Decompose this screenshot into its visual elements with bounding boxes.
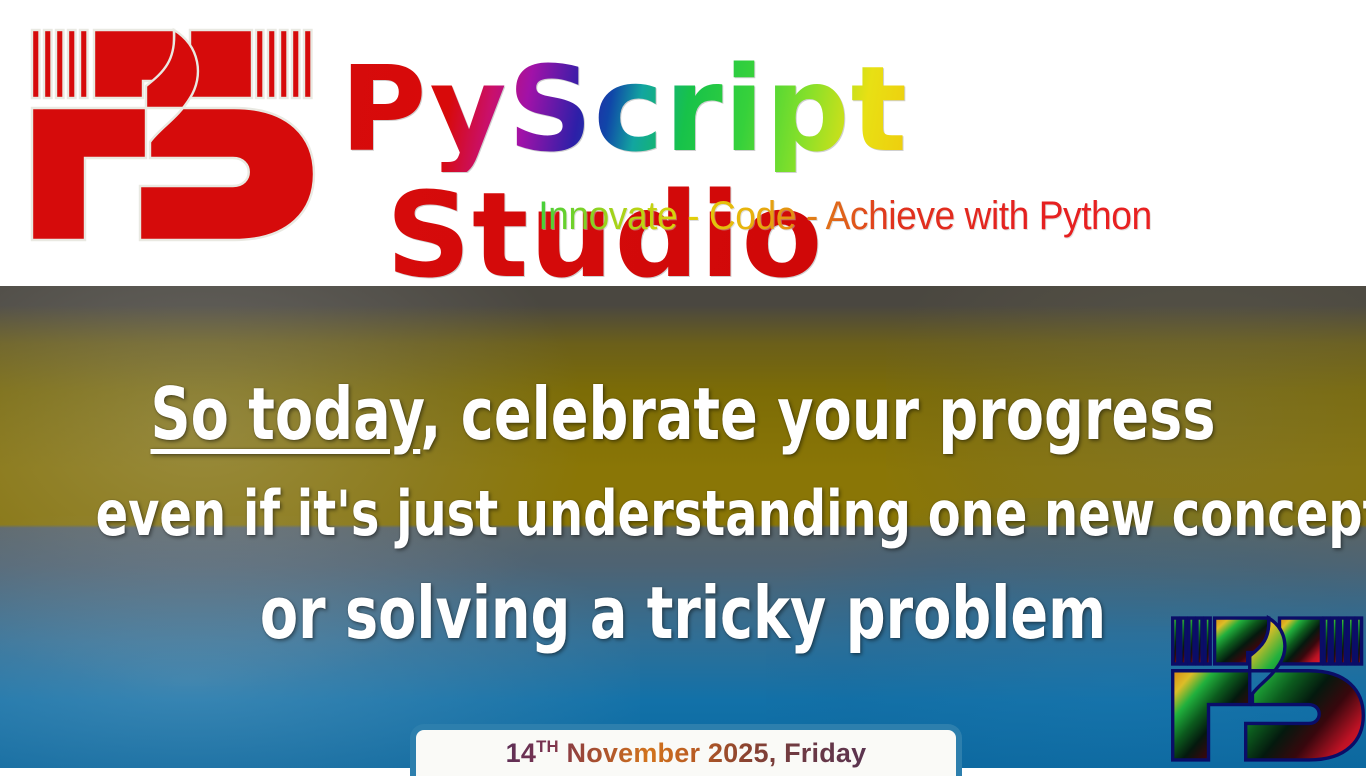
date-day: 14 bbox=[506, 738, 536, 768]
ps-logo-watermark-icon bbox=[1170, 610, 1366, 768]
brand-name-pyscript: PyScript bbox=[340, 46, 914, 172]
quote-banner: So today, celebrate your progress even i… bbox=[0, 286, 1366, 768]
banner-background bbox=[0, 286, 1366, 768]
date-badge-text: 14TH November 2025, Friday bbox=[506, 737, 867, 769]
ps-logo-icon bbox=[28, 24, 318, 246]
site-header: PyScriptStudio Innovate - Code - Achieve… bbox=[0, 0, 1366, 286]
date-badge: 14TH November 2025, Friday bbox=[410, 724, 962, 776]
brand-tagline: Innovate - Code - Achieve with Python bbox=[375, 190, 1314, 242]
brand-wordmark: PyScriptStudio bbox=[340, 46, 1350, 181]
date-rest: November 2025, Friday bbox=[559, 738, 867, 768]
date-ordinal: TH bbox=[536, 737, 559, 756]
